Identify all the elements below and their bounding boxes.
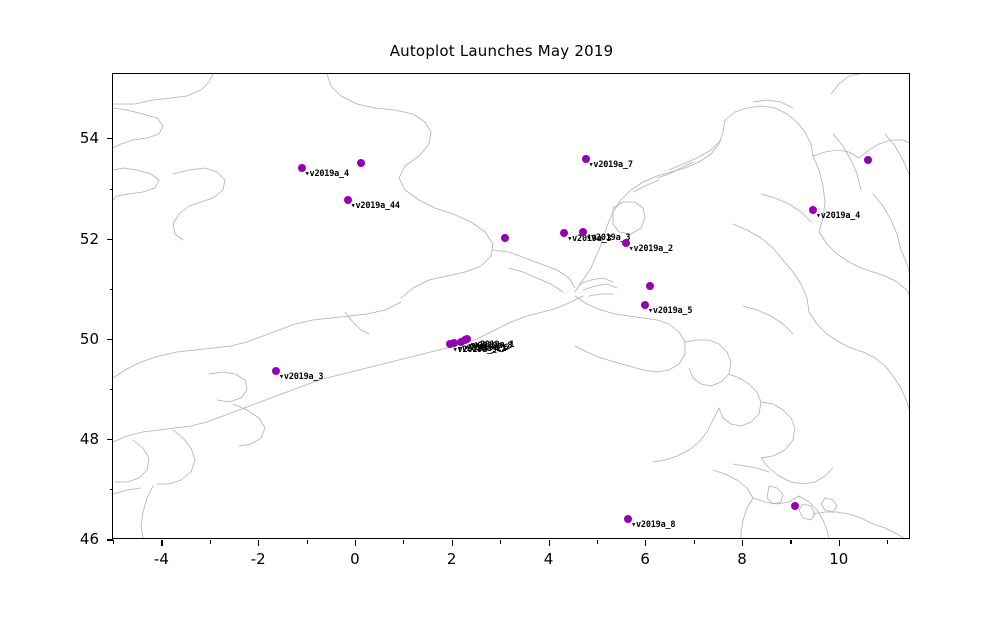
figure-canvas: Autoplot Launches May 2019 bbox=[0, 0, 1003, 633]
x-tick-minor bbox=[597, 540, 598, 544]
x-tick-label: -4 bbox=[154, 550, 169, 568]
scatter-point-label: ▾v2019a_7 bbox=[589, 160, 633, 170]
x-tick-label: 6 bbox=[640, 550, 650, 568]
x-tick-major bbox=[258, 540, 259, 546]
scatter-point-label: ▾v2019a_3 bbox=[279, 372, 323, 382]
x-tick-label: 4 bbox=[544, 550, 554, 568]
y-tick-label: 54 bbox=[80, 129, 99, 147]
x-tick-major bbox=[161, 540, 162, 546]
y-tick-label: 46 bbox=[80, 530, 99, 548]
x-tick-label: 8 bbox=[737, 550, 747, 568]
x-tick-major bbox=[549, 540, 550, 546]
x-tick-major bbox=[742, 540, 743, 546]
x-tick-minor bbox=[790, 540, 791, 544]
scatter-point bbox=[864, 156, 872, 164]
y-tick-major bbox=[107, 138, 113, 139]
scatter-point bbox=[646, 282, 654, 290]
y-tick-major bbox=[107, 239, 113, 240]
x-tick-minor bbox=[887, 540, 888, 544]
x-tick-label: 10 bbox=[829, 550, 848, 568]
x-tick-minor bbox=[694, 540, 695, 544]
x-tick-label: 0 bbox=[350, 550, 360, 568]
scatter-point-label: ▾v2019a_2 bbox=[629, 244, 673, 254]
basemap-coastlines bbox=[113, 74, 909, 538]
y-tick-label: 52 bbox=[80, 230, 99, 248]
x-tick-minor bbox=[210, 540, 211, 544]
scatter-point-label: ▾v2019a_4 bbox=[816, 211, 860, 221]
scatter-point-label: ▾v2019a_5 bbox=[648, 306, 692, 316]
y-tick-major bbox=[107, 539, 113, 540]
y-tick-minor bbox=[110, 189, 114, 190]
y-tick-label: 50 bbox=[80, 330, 99, 348]
scatter-point bbox=[501, 234, 509, 242]
x-tick-minor bbox=[113, 540, 114, 544]
x-tick-major bbox=[452, 540, 453, 546]
scatter-point-label: ▾v2019a_44 bbox=[351, 201, 400, 211]
x-tick-major bbox=[839, 540, 840, 546]
x-tick-label: -2 bbox=[251, 550, 266, 568]
y-tick-label: 48 bbox=[80, 430, 99, 448]
x-tick-minor bbox=[307, 540, 308, 544]
y-tick-minor bbox=[110, 289, 114, 290]
scatter-point-label: ▾v2019a_9 bbox=[453, 345, 497, 355]
plot-axes: -4 -2 0 2 4 6 8 10 46 48 50 52 54 ▾v2019… bbox=[112, 73, 910, 539]
scatter-point bbox=[791, 502, 799, 510]
y-tick-minor bbox=[110, 489, 114, 490]
x-tick-label: 2 bbox=[447, 550, 457, 568]
chart-title: Autoplot Launches May 2019 bbox=[0, 42, 1003, 60]
y-tick-major bbox=[107, 339, 113, 340]
scatter-point-label: ▾v2019a_8 bbox=[631, 520, 675, 530]
x-tick-major bbox=[645, 540, 646, 546]
x-tick-minor bbox=[500, 540, 501, 544]
map-clip-region bbox=[113, 74, 909, 538]
scatter-point-label: ▾v2019a_4 bbox=[305, 169, 349, 179]
scatter-point bbox=[357, 159, 365, 167]
x-tick-minor bbox=[403, 540, 404, 544]
y-tick-major bbox=[107, 439, 113, 440]
x-tick-major bbox=[355, 540, 356, 546]
y-tick-minor bbox=[110, 389, 114, 390]
